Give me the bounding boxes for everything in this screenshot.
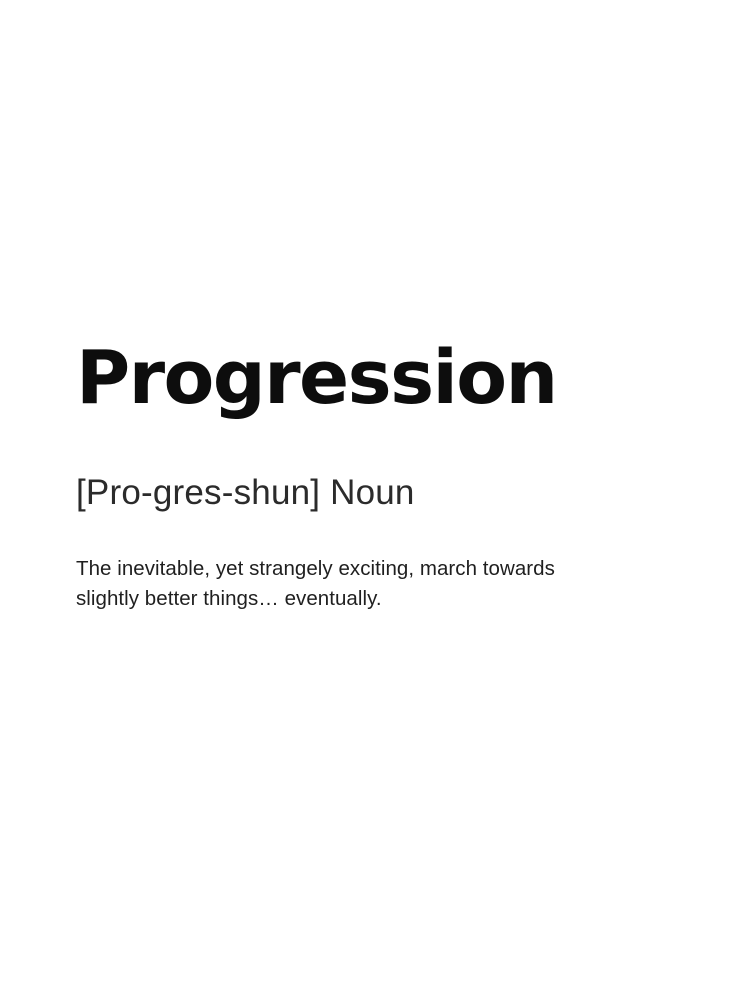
meaning-line-2: slightly better things… eventually. [76, 584, 616, 614]
pronunciation-line: [Pro-gres-shun] Noun [76, 475, 676, 510]
definition-block: Progression [Pro-gres-shun] Noun The ine… [76, 341, 676, 614]
meaning-line-1: The inevitable, yet strangely exciting, … [76, 554, 616, 584]
meaning-text: The inevitable, yet strangely exciting, … [76, 554, 616, 614]
definition-poster: Progression [Pro-gres-shun] Noun The ine… [0, 0, 748, 997]
word-title: Progression [76, 341, 676, 415]
